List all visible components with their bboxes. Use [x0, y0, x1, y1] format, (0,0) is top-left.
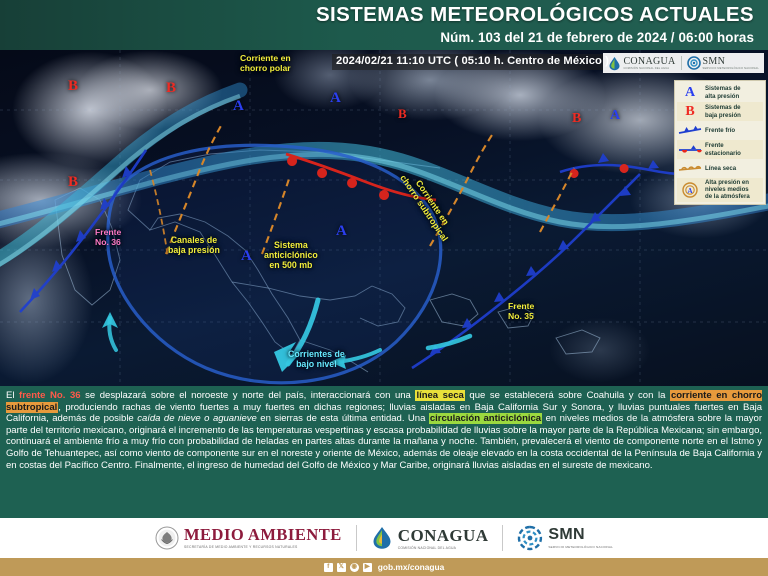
smn-subtext: SERVICIO METEOROLÓGICO NACIONAL — [548, 545, 613, 549]
highlighted-term: línea seca — [415, 390, 464, 401]
eagle-seal-icon — [155, 526, 179, 550]
pressure-marker-b: B — [68, 174, 78, 191]
legend-label: Alta presión en niveles medios de la atm… — [705, 179, 750, 201]
high-pressure-a-icon: A — [678, 84, 702, 101]
highlighted-term: circulación anticiclónica — [429, 413, 542, 424]
pressure-marker-a: A — [610, 108, 620, 124]
logo-divider — [681, 56, 682, 70]
legend-item-cold-front: Frente frío — [677, 121, 763, 140]
legend-item-high-pressure: A Sistemas de alta presión — [677, 83, 763, 102]
x-icon[interactable]: 𝕏 — [337, 563, 346, 572]
bulletin-number-date: Núm. 103 del 21 de febrero de 2024 / 06:… — [440, 30, 754, 45]
pressure-marker-a: A — [241, 248, 252, 265]
highlighted-term: caída de nieve o aguanieve — [137, 413, 257, 424]
pressure-marker-b: B — [398, 106, 407, 122]
pressure-marker-b: B — [68, 78, 78, 95]
conagua-subtext: COMISIÓN NACIONAL DEL AGUA — [398, 546, 489, 550]
pressure-marker-b: B — [166, 80, 176, 97]
instagram-icon[interactable]: ◉ — [350, 563, 359, 572]
smn-spiral-icon — [517, 525, 543, 551]
pressure-marker-a: A — [330, 90, 341, 107]
map-logo-strip: CONAGUA COMISIÓN NACIONAL DEL AGUA SMN S… — [603, 53, 764, 73]
website-url[interactable]: gob.mx/conagua — [378, 562, 445, 572]
conagua-logo-subtext: COMISIÓN NACIONAL DEL AGUA — [623, 67, 675, 70]
legend-item-dry-line: Línea seca — [677, 159, 763, 178]
satellite-map: 2024/02/21 11:10 UTC ( 05:10 h. Centro d… — [0, 50, 768, 386]
smn-text: SMN — [548, 527, 613, 543]
conagua-logo-text: CONAGUA — [623, 56, 675, 67]
pressure-marker-a: A — [336, 223, 347, 240]
pressure-marker-b: B — [572, 111, 581, 127]
medio-ambiente-logo: MEDIO AMBIENTE SECRETARÍA DE MEDIO AMBIE… — [155, 526, 342, 550]
map-overlay-graphics — [0, 50, 768, 386]
conagua-logo-map: CONAGUA COMISIÓN NACIONAL DEL AGUA — [608, 56, 675, 71]
weather-bulletin-page: SISTEMAS METEOROLÓGICOS ACTUALES Núm. 10… — [0, 0, 768, 576]
smn-logo-text: SMN — [703, 56, 759, 67]
social-media-bar: f 𝕏 ◉ ▶ gob.mx/conagua — [0, 558, 768, 576]
facebook-icon[interactable]: f — [324, 563, 333, 572]
highlighted-term: corriente en chorro subtropical — [6, 390, 762, 413]
footer-divider — [502, 525, 503, 551]
label-low-pressure-channels: Canales de baja presión — [168, 236, 220, 256]
legend-label: Frente frío — [705, 127, 735, 134]
legend-label: Frente estacionario — [705, 142, 741, 156]
legend-item-stationary-front: Frente estacionario — [677, 140, 763, 159]
dry-line-icon — [678, 160, 702, 177]
footer-logos: MEDIO AMBIENTE SECRETARÍA DE MEDIO AMBIE… — [0, 518, 768, 558]
cold-front-icon — [678, 122, 702, 139]
legend-label: Línea seca — [705, 165, 736, 172]
smn-spiral-icon — [687, 56, 701, 70]
label-front-35: Frente No. 35 — [508, 302, 534, 321]
low-pressure-b-icon: B — [678, 103, 702, 120]
smn-logo-map: SMN SERVICIO METEOROLÓGICO NACIONAL — [687, 56, 759, 70]
page-title: SISTEMAS METEOROLÓGICOS ACTUALES — [316, 3, 754, 27]
legend-item-mid-level-high: A Alta presión en niveles medios de la a… — [677, 178, 763, 202]
footer-divider — [356, 525, 357, 551]
label-polar-jet: Corriente en chorro polar — [240, 54, 291, 73]
page-header: SISTEMAS METEOROLÓGICOS ACTUALES Núm. 10… — [0, 0, 768, 50]
mid-level-high-icon: A — [678, 181, 702, 198]
label-anticyclonic-system: Sistema anticiclónico en 500 mb — [264, 241, 318, 271]
svg-text:A: A — [687, 187, 692, 195]
forecast-paragraph: El frente No. 36 se desplazará sobre el … — [6, 390, 762, 471]
conagua-droplet-icon — [371, 525, 393, 551]
conagua-logo-footer: CONAGUA COMISIÓN NACIONAL DEL AGUA — [371, 525, 489, 551]
conagua-droplet-icon — [608, 56, 621, 71]
medio-ambiente-subtext: SECRETARÍA DE MEDIO AMBIENTE Y RECURSOS … — [184, 545, 342, 549]
legend-label: Sistemas de alta presión — [705, 85, 741, 99]
map-timestamp: 2024/02/21 11:10 UTC ( 05:10 h. Centro d… — [332, 54, 613, 70]
stationary-front-icon — [678, 141, 702, 158]
smn-logo-subtext: SERVICIO METEOROLÓGICO NACIONAL — [703, 67, 759, 70]
medio-ambiente-text: MEDIO AMBIENTE — [184, 527, 342, 544]
legend-item-low-pressure: B Sistemas de baja presión — [677, 102, 763, 121]
conagua-text: CONAGUA — [398, 527, 489, 544]
label-front-36: Frente No. 36 — [95, 228, 121, 247]
map-legend: A Sistemas de alta presión B Sistemas de… — [674, 80, 766, 205]
youtube-icon[interactable]: ▶ — [363, 563, 372, 572]
smn-logo-footer: SMN SERVICIO METEOROLÓGICO NACIONAL — [517, 525, 613, 551]
legend-label: Sistemas de baja presión — [705, 104, 741, 118]
highlighted-term: frente No. 36 — [19, 390, 80, 401]
label-low-level-currents: Corrientes de bajo nivel — [288, 350, 345, 370]
pressure-marker-a: A — [233, 98, 244, 115]
forecast-text-block: El frente No. 36 se desplazará sobre el … — [0, 386, 768, 518]
